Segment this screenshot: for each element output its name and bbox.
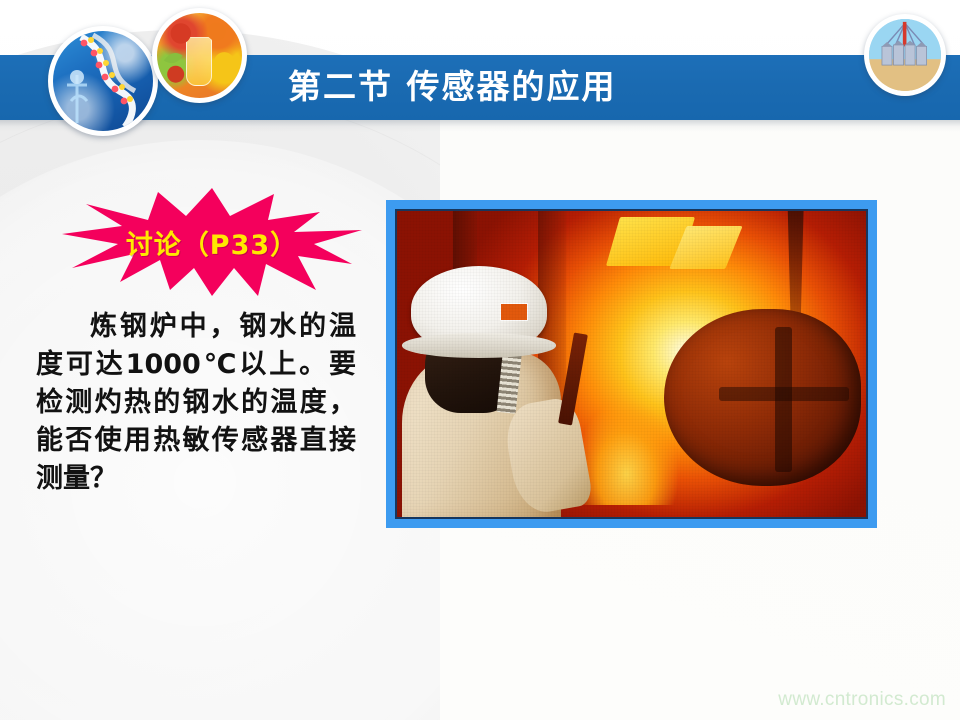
discussion-callout-label: 讨论（P33） [62,186,362,298]
fruit-juice-circle-icon [152,8,247,103]
grain-silo-circle-icon [864,14,946,96]
silo-icon [869,19,941,91]
site-watermark: www.cntronics.com [778,689,946,711]
steel-furnace-photo [395,209,868,519]
slide-canvas: 第二节 传感器的应用 [0,0,960,720]
discussion-callout: 讨论（P33） [62,186,362,298]
dna-helix-icon [53,31,153,131]
fruit-pieces-icon [157,13,242,98]
dna-lab-circle-icon [48,26,158,136]
steel-furnace-photo-frame [386,200,877,528]
page-title: 第二节 传感器的应用 [288,62,617,112]
body-paragraph: 炼钢炉中，钢水的温度可达1000℃以上。要检测灼热的钢水的温度，能否使用热敏传感… [36,308,356,498]
steel-furnace-illustration [397,211,866,517]
